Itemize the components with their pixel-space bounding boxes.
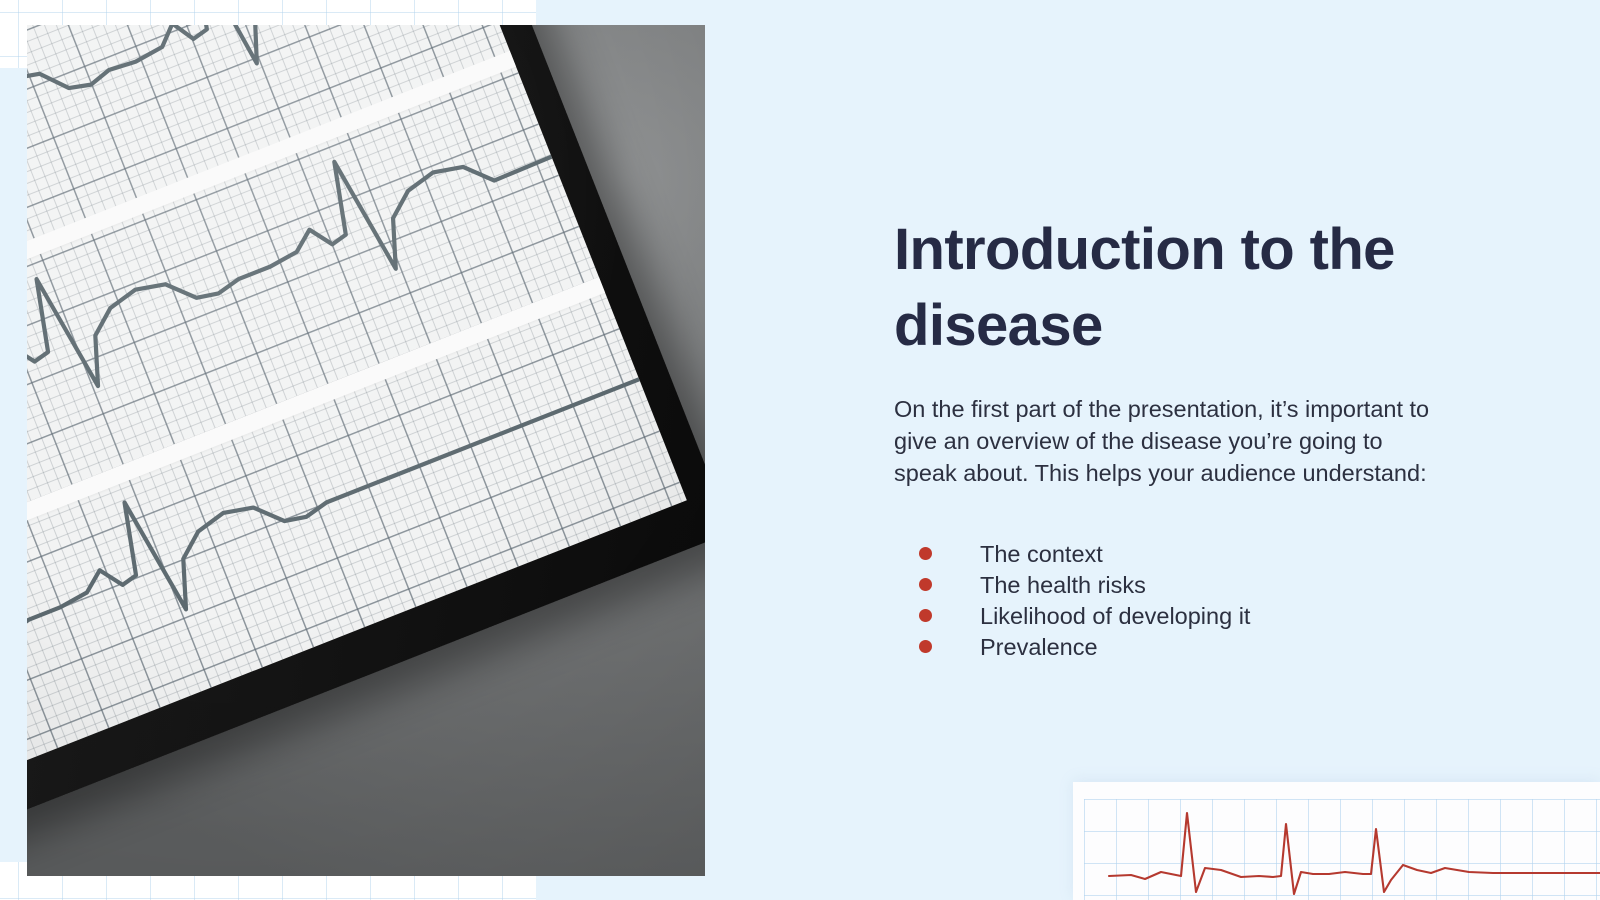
list-item-label: Likelihood of developing it [980,603,1250,630]
ecg-printout-photo [27,25,705,876]
bullet-dot-icon [919,609,932,622]
list-item: Likelihood of developing it [894,603,1454,634]
list-item-label: The health risks [980,572,1146,599]
key-points-list: The context The health risks Likelihood … [894,541,1454,665]
text-content-block: Introduction to the disease On the first… [894,0,1514,900]
list-item: The context [894,541,1454,572]
list-item: Prevalence [894,634,1454,665]
intro-paragraph: On the first part of the presentation, i… [894,394,1440,489]
bullet-dot-icon [919,547,932,560]
bullet-dot-icon [919,640,932,653]
slide-canvas: Introduction to the disease On the first… [0,0,1600,900]
list-item: The health risks [894,572,1454,603]
photo-vignette [27,25,705,876]
ecg-waveform-icon [1073,782,1600,900]
ecg-waveform-decoration [1073,782,1600,900]
page-title: Introduction to the disease [894,212,1454,364]
bullet-dot-icon [919,578,932,591]
list-item-label: The context [980,541,1103,568]
list-item-label: Prevalence [980,634,1098,661]
